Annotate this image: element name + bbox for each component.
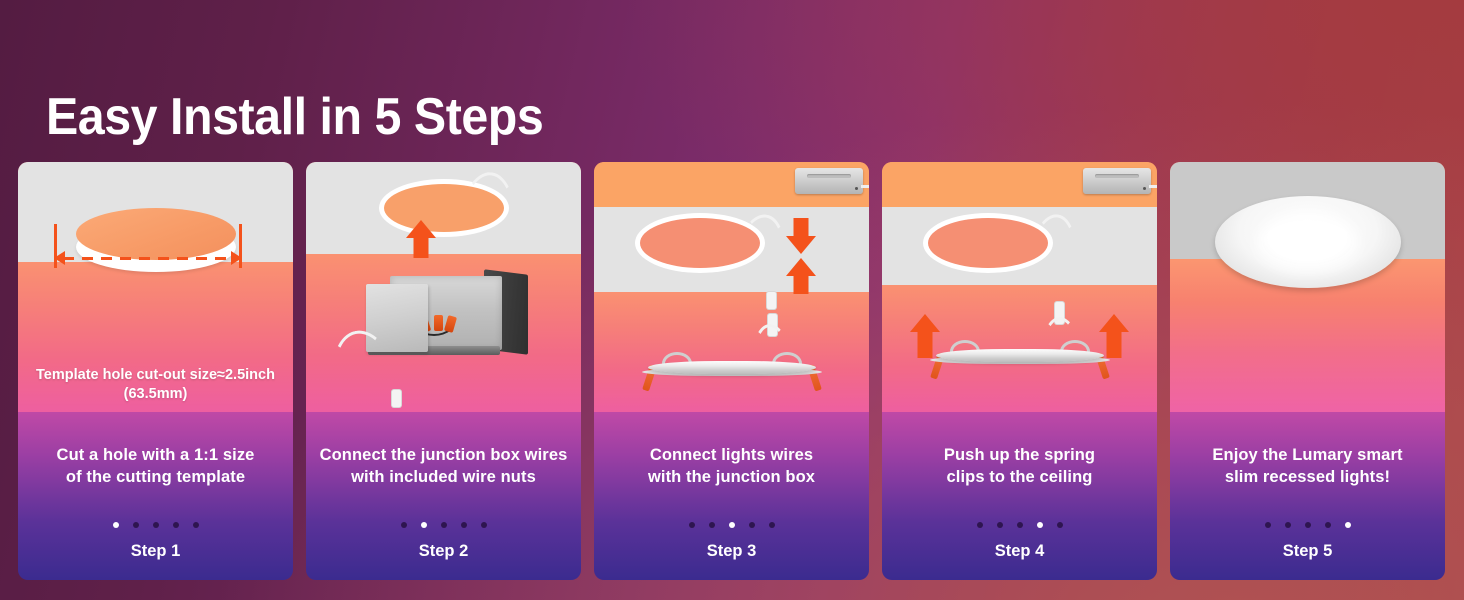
step-4-caption: Push up the springclips to the ceiling bbox=[934, 444, 1105, 488]
progress-dot[interactable] bbox=[401, 522, 407, 528]
wire-connector-icon bbox=[767, 292, 776, 309]
step-4-body: Push up the springclips to the ceiling S… bbox=[882, 412, 1157, 580]
step-4-progress-dots[interactable] bbox=[977, 522, 1063, 528]
arrow-up-icon bbox=[406, 220, 436, 258]
step-2-progress-dots[interactable] bbox=[401, 522, 487, 528]
progress-dot[interactable] bbox=[749, 522, 755, 528]
progress-dot[interactable] bbox=[421, 522, 427, 528]
slim-recessed-light-icon bbox=[638, 352, 826, 382]
step-3-illustration bbox=[594, 162, 869, 412]
progress-dot[interactable] bbox=[481, 522, 487, 528]
progress-dot[interactable] bbox=[709, 522, 715, 528]
step-card-3[interactable]: Connect lights wireswith the junction bo… bbox=[594, 162, 869, 580]
step-2-body: Connect the junction box wireswith inclu… bbox=[306, 412, 581, 580]
progress-dot[interactable] bbox=[1057, 522, 1063, 528]
progress-dot[interactable] bbox=[1037, 522, 1043, 528]
progress-dot[interactable] bbox=[193, 522, 199, 528]
promo-banner: Easy Install in 5 Steps Template hol bbox=[0, 0, 1464, 600]
step-3-label: Step 3 bbox=[707, 542, 757, 561]
step-3-progress-dots[interactable] bbox=[689, 522, 775, 528]
step-2-caption: Connect the junction box wireswith inclu… bbox=[310, 444, 578, 488]
measurement-arrow-icon bbox=[54, 224, 242, 268]
progress-dot[interactable] bbox=[113, 522, 119, 528]
step-5-body: Enjoy the Lumary smartslim recessed ligh… bbox=[1170, 412, 1445, 580]
progress-dot[interactable] bbox=[441, 522, 447, 528]
step-card-5[interactable]: Enjoy the Lumary smartslim recessed ligh… bbox=[1170, 162, 1445, 580]
progress-dot[interactable] bbox=[689, 522, 695, 528]
progress-dot[interactable] bbox=[1325, 522, 1331, 528]
step-2-illustration bbox=[306, 162, 581, 412]
wire-connector-icon bbox=[392, 390, 401, 407]
slim-recessed-light-icon bbox=[926, 340, 1114, 370]
page-title: Easy Install in 5 Steps bbox=[46, 88, 543, 146]
step-2-label: Step 2 bbox=[419, 542, 469, 561]
progress-dot[interactable] bbox=[133, 522, 139, 528]
led-driver-box-icon bbox=[1083, 168, 1151, 194]
arrow-down-icon bbox=[786, 218, 816, 254]
progress-dot[interactable] bbox=[461, 522, 467, 528]
steps-card-list: Template hole cut-out size≈2.5inch(63.5m… bbox=[18, 162, 1450, 580]
step-3-body: Connect lights wireswith the junction bo… bbox=[594, 412, 869, 580]
progress-dot[interactable] bbox=[1345, 522, 1351, 528]
progress-dot[interactable] bbox=[173, 522, 179, 528]
step-1-illustration: Template hole cut-out size≈2.5inch(63.5m… bbox=[18, 162, 293, 412]
step-3-caption: Connect lights wireswith the junction bo… bbox=[638, 444, 825, 488]
step-4-illustration bbox=[882, 162, 1157, 412]
progress-dot[interactable] bbox=[1017, 522, 1023, 528]
installed-recessed-light-icon bbox=[1215, 196, 1401, 288]
step-4-label: Step 4 bbox=[995, 542, 1045, 561]
step-1-art-caption: Template hole cut-out size≈2.5inch(63.5m… bbox=[18, 366, 293, 412]
step-5-label: Step 5 bbox=[1283, 542, 1333, 561]
step-1-caption: Cut a hole with a 1:1 sizeof the cutting… bbox=[47, 444, 265, 488]
step-card-2[interactable]: Connect the junction box wireswith inclu… bbox=[306, 162, 581, 580]
step-card-4[interactable]: Push up the springclips to the ceiling S… bbox=[882, 162, 1157, 580]
led-driver-box-icon bbox=[795, 168, 863, 194]
progress-dot[interactable] bbox=[977, 522, 983, 528]
progress-dot[interactable] bbox=[1265, 522, 1271, 528]
progress-dot[interactable] bbox=[153, 522, 159, 528]
step-1-label: Step 1 bbox=[131, 542, 181, 561]
progress-dot[interactable] bbox=[997, 522, 1003, 528]
progress-dot[interactable] bbox=[1285, 522, 1291, 528]
step-5-caption: Enjoy the Lumary smartslim recessed ligh… bbox=[1202, 444, 1412, 488]
step-1-body: Cut a hole with a 1:1 sizeof the cutting… bbox=[18, 412, 293, 580]
step-5-progress-dots[interactable] bbox=[1265, 522, 1351, 528]
progress-dot[interactable] bbox=[1305, 522, 1311, 528]
step-5-illustration bbox=[1170, 162, 1445, 412]
progress-dot[interactable] bbox=[769, 522, 775, 528]
progress-dot[interactable] bbox=[729, 522, 735, 528]
junction-box-icon bbox=[366, 276, 528, 358]
step-card-1[interactable]: Template hole cut-out size≈2.5inch(63.5m… bbox=[18, 162, 293, 580]
step-1-progress-dots[interactable] bbox=[113, 522, 199, 528]
arrow-up-icon bbox=[786, 258, 816, 294]
